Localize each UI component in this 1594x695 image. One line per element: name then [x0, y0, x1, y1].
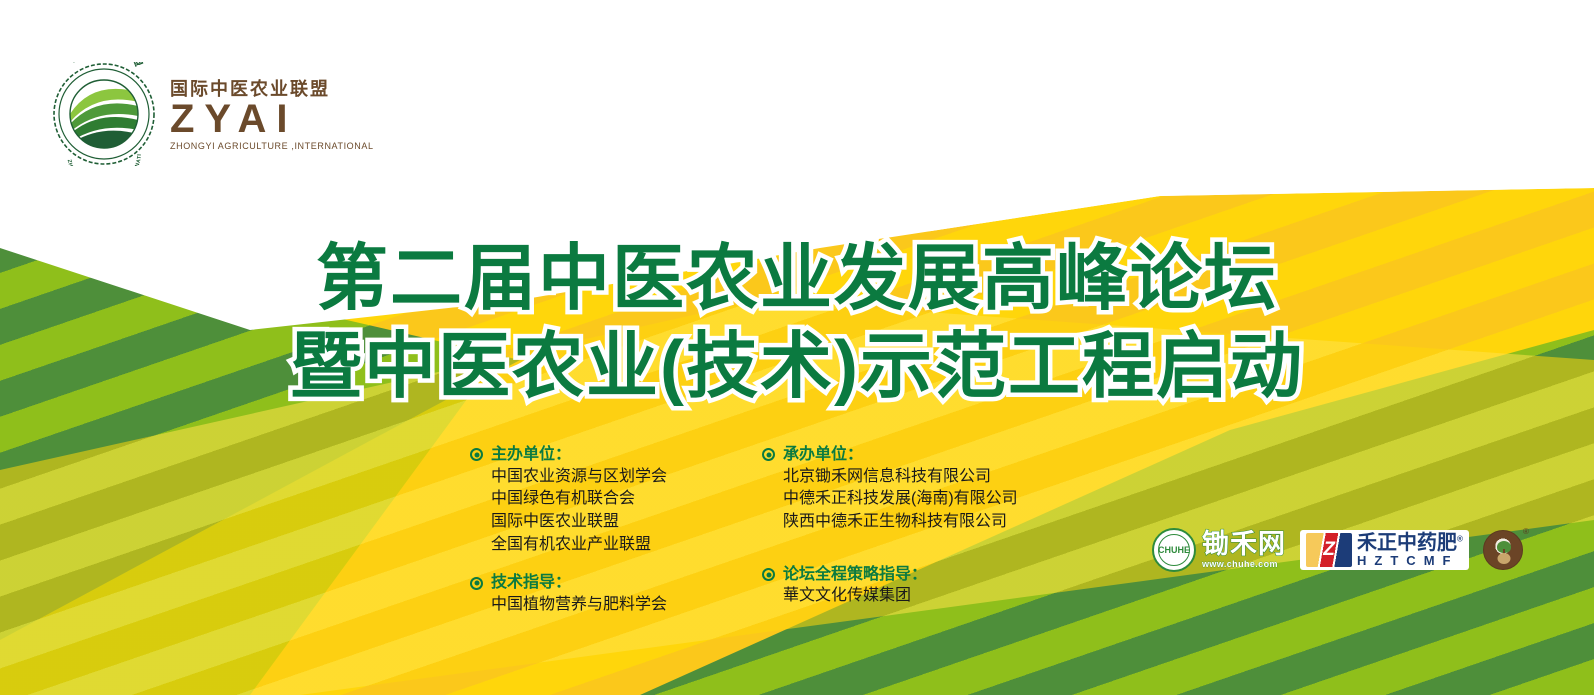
list-item: 北京锄禾网信息科技有限公司 — [762, 466, 1040, 489]
registered-mark: ® — [1523, 527, 1529, 536]
info-group-strategy-guidance: 论坛全程策略指导： 華文文化传媒集团 — [762, 564, 1040, 608]
tree-roots-icon — [1497, 553, 1510, 564]
page-title: 第二届中医农业发展高峰论坛 暨中医农业(技术)示范工程启动 — [0, 236, 1594, 412]
organizer-column-left: 主办单位： 中国农业资源与区划学会 中国绿色有机联合会 国际中医农业联盟 全国有… — [470, 444, 748, 617]
hztcmf-mark-letter: Z — [1323, 539, 1335, 561]
organizer-info: 主办单位： 中国农业资源与区划学会 中国绿色有机联合会 国际中医农业联盟 全国有… — [470, 444, 1040, 617]
list-item: 全国有机农业产业联盟 — [470, 534, 748, 557]
organizer-column-right: 承办单位： 北京锄禾网信息科技有限公司 中德禾正科技发展(海南)有限公司 陕西中… — [762, 444, 1040, 617]
info-heading-technical-guidance: 技术指导： — [470, 572, 748, 594]
title-line-1: 第二届中医农业发展高峰论坛 — [0, 236, 1594, 324]
list-item: 華文文化传媒集团 — [762, 585, 1040, 608]
registered-mark: ® — [1457, 534, 1463, 543]
info-group-co-organizer: 承办单位： 北京锄禾网信息科技有限公司 中德禾正科技发展(海南)有限公司 陕西中… — [762, 444, 1040, 534]
title-line-2: 暨中医农业(技术)示范工程启动 — [0, 324, 1594, 412]
list-item: 中国植物营养与肥料学会 — [470, 594, 748, 617]
list-item: 陕西中德禾正生物科技有限公司 — [762, 511, 1040, 534]
info-heading-strategy-guidance: 论坛全程策略指导： — [762, 564, 1040, 586]
chuhe-url: www.chuhe.com — [1202, 560, 1286, 569]
logo-name-en: ZHONGYI AGRICULTURE ,INTERNATIONAL — [170, 141, 374, 151]
bullet-icon — [762, 568, 775, 581]
sponsor-logo-tree-seal: ® — [1483, 530, 1523, 570]
zyai-seal-icon: 国际中医农业联盟 ZHONGYI AGRICULTURE ,INTERNATIO… — [52, 62, 156, 166]
chuhe-seal-text: CHUHE — [1158, 534, 1190, 566]
hztcmf-mark-icon: Z — [1306, 533, 1352, 567]
sponsor-logos: CHUHE 锄禾网 www.chuhe.com Z 禾正中药肥® H Z T C… — [1152, 528, 1523, 572]
conference-banner: 国际中医农业联盟 ZHONGYI AGRICULTURE ,INTERNATIO… — [0, 0, 1594, 695]
sponsor-logo-chuhe: CHUHE 锄禾网 www.chuhe.com — [1152, 528, 1286, 572]
sponsor-logo-hztcmf: Z 禾正中药肥® H Z T C M F — [1300, 530, 1469, 570]
chuhe-name-cn: 锄禾网 — [1202, 531, 1286, 558]
zyai-wordmark: 国际中医农业联盟 ZYAI ZHONGYI AGRICULTURE ,INTER… — [170, 77, 374, 152]
info-heading-label: 承办单位： — [783, 444, 863, 466]
list-item: 国际中医农业联盟 — [470, 511, 748, 534]
bullet-icon — [762, 448, 775, 461]
tree-seal-icon: ® — [1483, 530, 1523, 570]
list-item: 中国农业资源与区划学会 — [470, 466, 748, 489]
logo-acronym: ZYAI — [170, 98, 374, 140]
info-group-host: 主办单位： 中国农业资源与区划学会 中国绿色有机联合会 国际中医农业联盟 全国有… — [470, 444, 748, 556]
info-heading-co-organizer: 承办单位： — [762, 444, 1040, 466]
bullet-icon — [470, 577, 483, 590]
list-item: 中国绿色有机联合会 — [470, 488, 748, 511]
chuhe-wordmark: 锄禾网 www.chuhe.com — [1202, 531, 1286, 569]
list-item: 中德禾正科技发展(海南)有限公司 — [762, 488, 1040, 511]
hztcmf-wordmark: 禾正中药肥® H Z T C M F — [1357, 533, 1463, 567]
info-heading-host: 主办单位： — [470, 444, 748, 466]
info-heading-label: 主办单位： — [491, 444, 571, 466]
chuhe-seal-icon: CHUHE — [1152, 528, 1196, 572]
hztcmf-name-en: H Z T C M F — [1357, 554, 1463, 567]
hztcmf-name-cn: 禾正中药肥® — [1357, 533, 1463, 553]
logo-name-cn: 国际中医农业联盟 — [170, 79, 374, 100]
bullet-icon — [470, 448, 483, 461]
info-group-technical-guidance: 技术指导： 中国植物营养与肥料学会 — [470, 572, 748, 616]
info-heading-label: 论坛全程策略指导： — [783, 564, 927, 586]
info-heading-label: 技术指导： — [491, 572, 571, 594]
organization-logo: 国际中医农业联盟 ZHONGYI AGRICULTURE ,INTERNATIO… — [52, 62, 374, 166]
layout-spacer — [762, 550, 1040, 564]
